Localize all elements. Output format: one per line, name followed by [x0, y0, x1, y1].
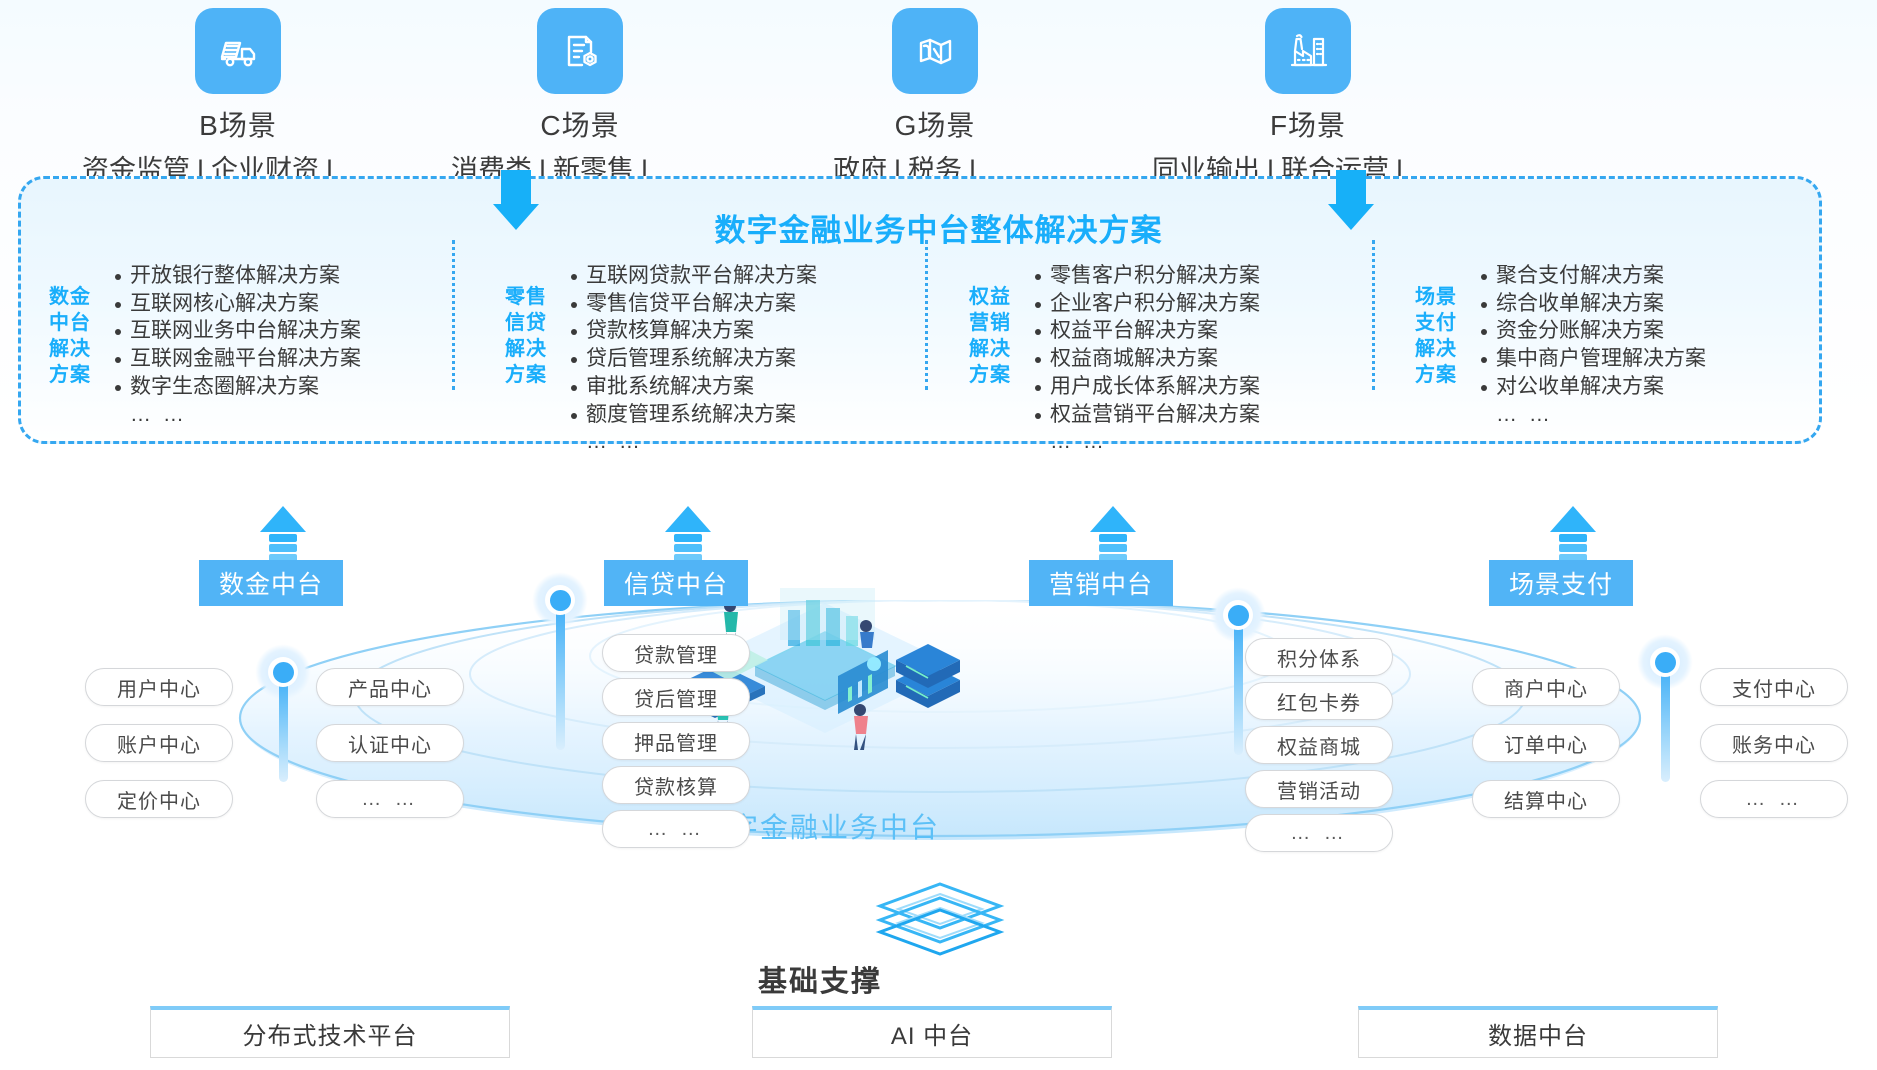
chip-more-xindai[interactable]: … …	[602, 810, 750, 848]
column-divider	[925, 240, 928, 390]
list-item: 贷后管理系统解决方案	[568, 345, 817, 373]
base-support-label: 基础支撑	[660, 958, 980, 1000]
platform-label-shujin[interactable]: 数金中台	[199, 560, 343, 606]
solution-list: 开放银行整体解决方案 互联网核心解决方案 互联网业务中台解决方案 互联网金融平台…	[98, 262, 361, 428]
list-item: 集中商户管理解决方案	[1478, 345, 1706, 373]
chip-rights-mall[interactable]: 权益商城	[1245, 726, 1393, 764]
solution-column-shujin: 数金 中台 解决 方案 开放银行整体解决方案 互联网核心解决方案 互联网业务中台…	[42, 262, 361, 428]
scenario-title: C场景	[400, 104, 760, 144]
list-item: 额度管理系统解决方案	[568, 401, 817, 429]
list-item: 零售客户积分解决方案	[1032, 262, 1260, 290]
up-arrow-shujin	[260, 506, 306, 562]
list-item: 对公收单解决方案	[1478, 373, 1706, 401]
factory-industry-icon	[1265, 8, 1351, 94]
list-item: 零售信贷平台解决方案	[568, 290, 817, 318]
column-divider	[452, 240, 455, 390]
page-title: 数字金融业务中台整体解决方案	[0, 205, 1877, 250]
down-arrow-c	[493, 170, 539, 230]
column-tag: 权益 营销 解决 方案	[962, 262, 1018, 388]
platform-label-zhifu[interactable]: 场景支付	[1489, 560, 1633, 606]
list-ellipsis: … …	[112, 401, 361, 429]
chip-order-center[interactable]: 订单中心	[1472, 724, 1620, 762]
column-tag: 数金 中台 解决 方案	[42, 262, 98, 388]
chip-more-zhifu[interactable]: … …	[1700, 780, 1848, 818]
solution-column-lingshou-xindai: 零售 信贷 解决 方案 互联网贷款平台解决方案 零售信贷平台解决方案 贷款核算解…	[498, 262, 817, 456]
chip-accounting-center[interactable]: 账务中心	[1700, 724, 1848, 762]
list-item: 资金分账解决方案	[1478, 317, 1706, 345]
list-item: 综合收单解决方案	[1478, 290, 1706, 318]
list-item: 企业客户积分解决方案	[1032, 290, 1260, 318]
chip-merchant-center[interactable]: 商户中心	[1472, 668, 1620, 706]
down-arrow-f	[1328, 170, 1374, 230]
chip-loan-accounting[interactable]: 贷款核算	[602, 766, 750, 804]
list-item: 权益商城解决方案	[1032, 345, 1260, 373]
layered-stack-icon	[850, 876, 1030, 956]
footer-box-data-platform[interactable]: 数据中台	[1358, 1006, 1718, 1058]
list-item: 互联网核心解决方案	[112, 290, 361, 318]
list-item: 聚合支付解决方案	[1478, 262, 1706, 290]
chip-marketing-campaign[interactable]: 营销活动	[1245, 770, 1393, 808]
column-tag: 零售 信贷 解决 方案	[498, 262, 554, 388]
solution-column-quanyi-yingxiao: 权益 营销 解决 方案 零售客户积分解决方案 企业客户积分解决方案 权益平台解决…	[962, 262, 1260, 456]
platform-label-yingxiao[interactable]: 营销中台	[1029, 560, 1173, 606]
solution-list: 互联网贷款平台解决方案 零售信贷平台解决方案 贷款核算解决方案 贷后管理系统解决…	[554, 262, 817, 456]
scenario-card-c: C场景 消费类 l 新零售 l ……	[400, 8, 760, 187]
column-divider	[1372, 240, 1375, 390]
list-item: 互联网业务中台解决方案	[112, 317, 361, 345]
footer-box-distributed-platform[interactable]: 分布式技术平台	[150, 1006, 510, 1058]
map-government-icon	[892, 8, 978, 94]
chip-coupon-redpacket[interactable]: 红包卡券	[1245, 682, 1393, 720]
scenario-title: F场景	[1128, 104, 1488, 144]
column-tag: 场景 支付 解决 方案	[1408, 262, 1464, 388]
chip-auth-center[interactable]: 认证中心	[316, 724, 464, 762]
list-item: 贷款核算解决方案	[568, 317, 817, 345]
footer-box-ai-platform[interactable]: AI 中台	[752, 1006, 1112, 1058]
chip-payment-center[interactable]: 支付中心	[1700, 668, 1848, 706]
list-item: 互联网金融平台解决方案	[112, 345, 361, 373]
scenario-title: G场景	[755, 104, 1115, 144]
chip-account-center[interactable]: 账户中心	[85, 724, 233, 762]
up-arrow-yingxiao	[1090, 506, 1136, 562]
platform-label-xindai[interactable]: 信贷中台	[604, 560, 748, 606]
scenario-card-b: B场景 资金监管 l 企业财资 l ……	[58, 8, 418, 187]
scenario-card-g: G场景 政府 l 税务 l ……	[755, 8, 1115, 187]
list-item: 权益营销平台解决方案	[1032, 401, 1260, 429]
chip-post-loan-management[interactable]: 贷后管理	[602, 678, 750, 716]
chip-settlement-center[interactable]: 结算中心	[1472, 780, 1620, 818]
list-ellipsis: … …	[1478, 401, 1706, 429]
chip-user-center[interactable]: 用户中心	[85, 668, 233, 706]
solution-list: 零售客户积分解决方案 企业客户积分解决方案 权益平台解决方案 权益商城解决方案 …	[1018, 262, 1260, 456]
list-item: 用户成长体系解决方案	[1032, 373, 1260, 401]
scenario-title: B场景	[58, 104, 418, 144]
list-item: 审批系统解决方案	[568, 373, 817, 401]
solution-column-changjing-zhifu: 场景 支付 解决 方案 聚合支付解决方案 综合收单解决方案 资金分账解决方案 集…	[1408, 262, 1706, 428]
scenario-card-f: F场景 同业输出 l 联合运营 l ……	[1128, 8, 1488, 187]
chip-pricing-center[interactable]: 定价中心	[85, 780, 233, 818]
chip-more-yingxiao[interactable]: … …	[1245, 814, 1393, 852]
chip-loan-management[interactable]: 贷款管理	[602, 634, 750, 672]
chip-collateral-management[interactable]: 押品管理	[602, 722, 750, 760]
solution-list: 聚合支付解决方案 综合收单解决方案 资金分账解决方案 集中商户管理解决方案 对公…	[1464, 262, 1706, 428]
list-ellipsis: … …	[1032, 428, 1260, 456]
list-item: 权益平台解决方案	[1032, 317, 1260, 345]
up-arrow-zhifu	[1550, 506, 1596, 562]
list-item: 开放银行整体解决方案	[112, 262, 361, 290]
truck-shipping-icon	[195, 8, 281, 94]
document-verified-icon	[537, 8, 623, 94]
list-ellipsis: … …	[568, 428, 817, 456]
chip-points-system[interactable]: 积分体系	[1245, 638, 1393, 676]
chip-more-shujin[interactable]: … …	[316, 780, 464, 818]
list-item: 数字生态圈解决方案	[112, 373, 361, 401]
list-item: 互联网贷款平台解决方案	[568, 262, 817, 290]
chip-product-center[interactable]: 产品中心	[316, 668, 464, 706]
diagram-canvas: B场景 资金监管 l 企业财资 l …… C场景 消费类 l 新零售 l …… …	[0, 0, 1877, 1070]
